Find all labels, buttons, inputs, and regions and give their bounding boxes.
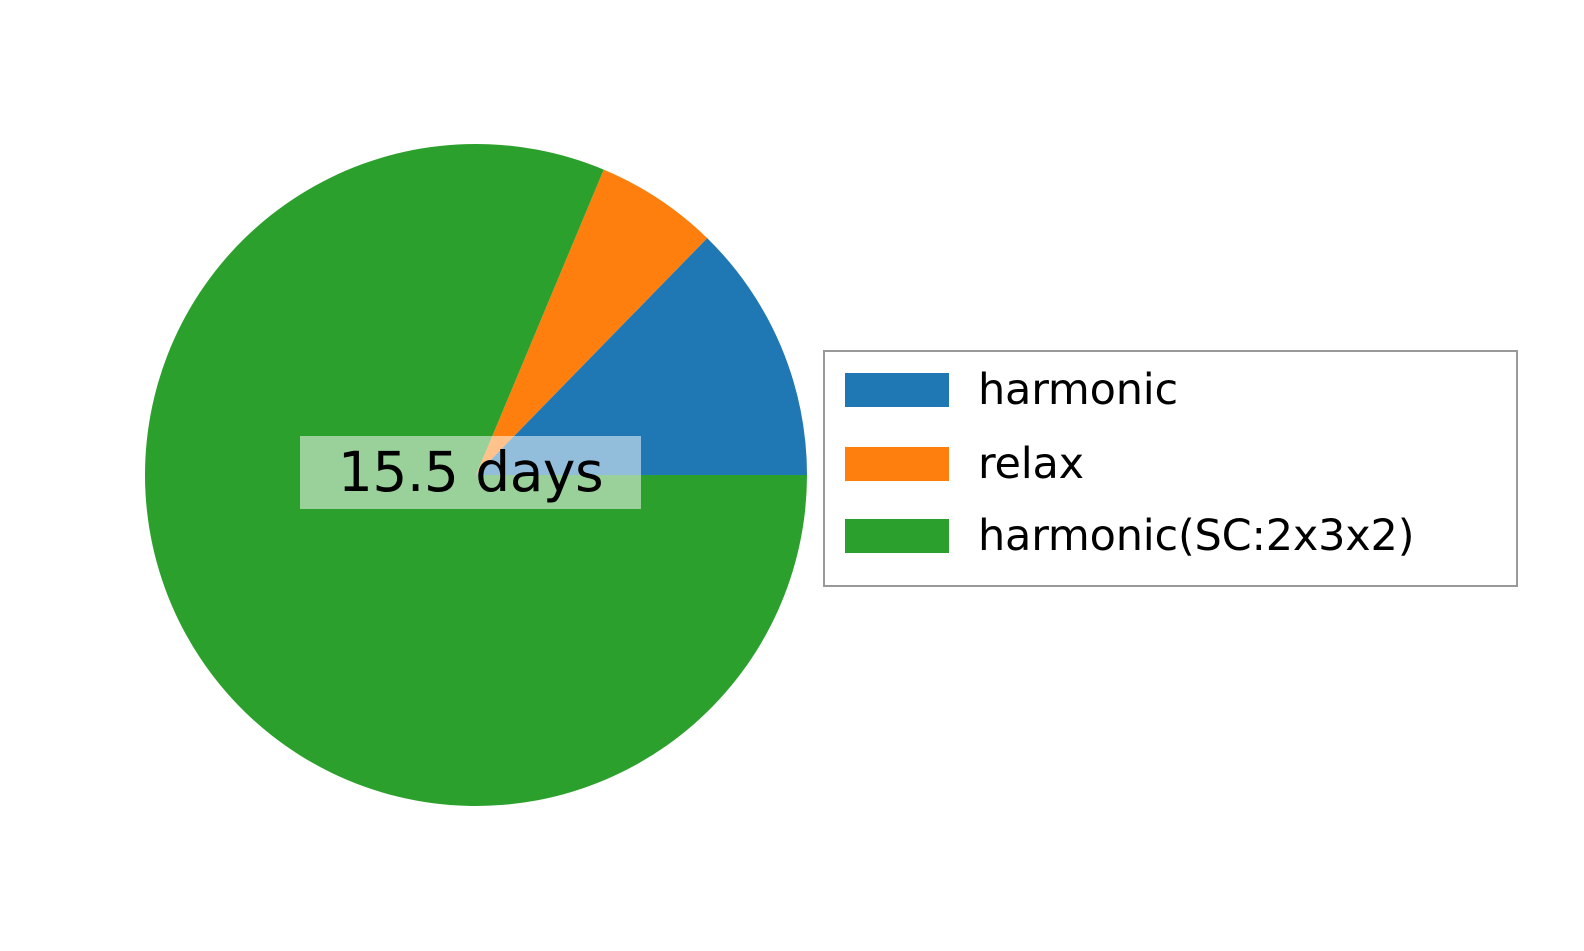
figure-canvas: 15.5 days harmonic relax harmonic(SC:2x3… xyxy=(0,0,1584,951)
pie-slice-group xyxy=(145,144,807,806)
legend-swatch-harmonic-sc xyxy=(845,519,949,553)
legend-label-harmonic-sc: harmonic(SC:2x3x2) xyxy=(978,515,1414,558)
legend-item-harmonic-sc[interactable]: harmonic(SC:2x3x2) xyxy=(845,519,1414,553)
legend-item-relax[interactable]: relax xyxy=(845,447,1084,481)
legend-swatch-relax xyxy=(845,447,949,481)
legend-label-harmonic: harmonic xyxy=(978,369,1178,412)
pie-svg xyxy=(145,144,807,806)
legend-box: harmonic relax harmonic(SC:2x3x2) xyxy=(823,350,1518,587)
pie-chart xyxy=(145,144,807,806)
legend-item-harmonic[interactable]: harmonic xyxy=(845,373,1178,407)
legend-swatch-harmonic xyxy=(845,373,949,407)
legend-label-relax: relax xyxy=(978,443,1084,486)
